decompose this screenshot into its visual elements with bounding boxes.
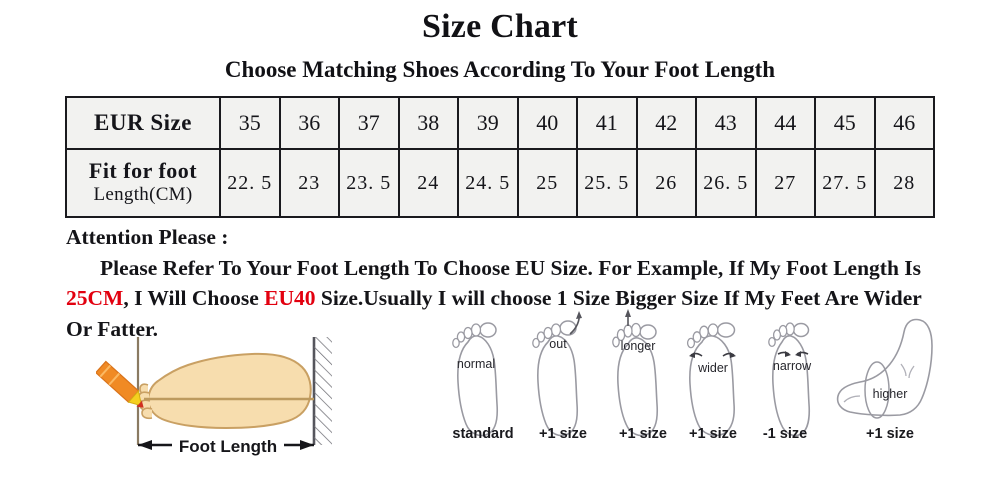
- attention-highlight-length: 25CM: [66, 286, 123, 310]
- foot-length-cell: 28: [875, 149, 935, 217]
- eur-size-cell: 38: [399, 97, 459, 149]
- foot-measuring-diagram: Foot Length: [96, 333, 378, 461]
- eur-size-cell: 40: [518, 97, 578, 149]
- eur-size-cell: 43: [696, 97, 756, 149]
- foot-icon-label-narrow: narrow: [773, 359, 812, 373]
- page-title: Size Chart: [0, 8, 1000, 46]
- foot-icon-higher: higher: [838, 320, 932, 419]
- foot-length-cell: 22. 5: [220, 149, 280, 217]
- foot-length-cell: 24. 5: [458, 149, 518, 217]
- foot-length-cell: 27. 5: [815, 149, 875, 217]
- table-row-eur-size: EUR Size 35 36 37 38 39 40 41 42 43 44 4…: [66, 97, 934, 149]
- eur-size-cell: 37: [339, 97, 399, 149]
- eur-size-cell: 41: [577, 97, 637, 149]
- foot-icon-label-out: out: [549, 337, 567, 351]
- row-header-foot-length-line1: Fit for foot: [68, 159, 218, 184]
- foot-icon-label-higher: higher: [873, 387, 908, 401]
- foot-length-cell: 26. 5: [696, 149, 756, 217]
- eur-size-cell: 46: [875, 97, 935, 149]
- attention-line2-a: Length Is: [833, 256, 921, 280]
- foot-length-cell: 26: [637, 149, 697, 217]
- attention-heading: Attention Please :: [66, 222, 946, 253]
- row-header-eur-size: EUR Size: [66, 97, 220, 149]
- eur-size-cell: 42: [637, 97, 697, 149]
- foot-length-cell: 25. 5: [577, 149, 637, 217]
- foot-icon-normal: normal: [453, 323, 497, 436]
- wall-hatching: [314, 337, 332, 445]
- eur-size-cell: 35: [220, 97, 280, 149]
- foot-type-caption-higher: +1 size: [840, 426, 940, 442]
- foot-length-cell: 24: [399, 149, 459, 217]
- eur-size-cell: 39: [458, 97, 518, 149]
- foot-type-legend: normal out longer: [430, 306, 950, 461]
- eur-size-cell: 44: [756, 97, 816, 149]
- attention-line2-b: , I Will Choose: [123, 286, 264, 310]
- foot-icon-wider: wider: [688, 323, 736, 436]
- foot-outline-icon: [139, 354, 314, 428]
- eur-size-cell: 36: [280, 97, 340, 149]
- foot-icon-out: out: [533, 311, 582, 436]
- eur-size-cell: 45: [815, 97, 875, 149]
- row-header-foot-length: Fit for foot Length(CM): [66, 149, 220, 217]
- table-row-foot-length: Fit for foot Length(CM) 22. 5 23 23. 5 2…: [66, 149, 934, 217]
- foot-length-cell: 23. 5: [339, 149, 399, 217]
- foot-icon-longer: longer: [613, 309, 657, 436]
- row-header-foot-length-line2: Length(CM): [68, 183, 218, 207]
- size-chart-table: EUR Size 35 36 37 38 39 40 41 42 43 44 4…: [65, 96, 935, 218]
- foot-icon-label-longer: longer: [621, 339, 656, 353]
- foot-type-caption-standard: standard: [438, 426, 528, 442]
- attention-line1: Please Refer To Your Foot Length To Choo…: [100, 256, 828, 280]
- foot-type-caption-out: +1 size: [518, 426, 608, 442]
- foot-icon-label-wider: wider: [697, 361, 728, 375]
- foot-length-cell: 27: [756, 149, 816, 217]
- attention-highlight-eusize: EU40: [264, 286, 315, 310]
- foot-icon-label-normal: normal: [457, 357, 495, 371]
- foot-measuring-svg: Foot Length: [96, 333, 378, 461]
- page-subtitle: Choose Matching Shoes According To Your …: [0, 57, 1000, 83]
- foot-icon-narrow: narrow: [769, 323, 812, 436]
- foot-length-cell: 25: [518, 149, 578, 217]
- foot-length-label: Foot Length: [179, 437, 277, 456]
- foot-length-cell: 23: [280, 149, 340, 217]
- foot-type-caption-narrow: -1 size: [740, 426, 830, 442]
